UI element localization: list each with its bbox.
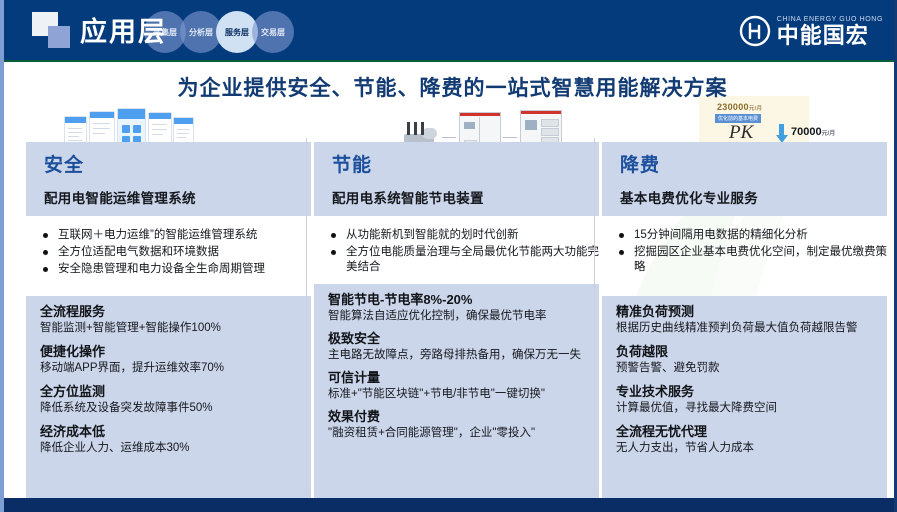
- bullet-text: 全方位电能质量治理与全局最优化节能两大功能完美结合: [346, 246, 599, 273]
- layer-circle-label: 交易层: [261, 27, 285, 38]
- connector-dash: [442, 137, 456, 138]
- cabinet-drawer: [541, 119, 559, 127]
- column-divider-1: [306, 138, 307, 494]
- company-emblem-icon: [739, 15, 771, 47]
- bullet-item: 全方位适配电气数据和环境数据: [40, 245, 311, 260]
- bullet-list-energy-saving: 从功能新机到智能就的划时代创新 全方位电能质量治理与全局最优化节能两大功能完美结…: [314, 228, 599, 277]
- detail-title: 经济成本低: [40, 424, 301, 440]
- detail-title: 智能节电-节电率8%-20%: [328, 292, 589, 308]
- detail-desc: 预警告警、避免罚款: [616, 361, 877, 376]
- brand-logo: CHINA ENERGY GUO HONG 中能国宏: [739, 11, 883, 51]
- phone-line: [152, 124, 167, 125]
- detail-item: 专业技术服务 计算最优值，寻找最大降费空间: [616, 384, 877, 416]
- phone-top-bar: [118, 109, 145, 119]
- phone-top-bar: [65, 117, 86, 123]
- cabinet-drawer: [541, 128, 559, 136]
- cabinet-screen: [525, 120, 537, 130]
- brand-name-chinese: 中能国宏: [777, 25, 883, 47]
- brand-name-english: CHINA ENERGY GUO HONG: [777, 16, 883, 23]
- bullet-item: 挖掘园区企业基本电费优化空间，制定最优缴费策略: [616, 245, 887, 275]
- column-energy-saving: 节能 配用电系统智能节电装置 从功能新机到智能就的划时代创新 全方位电能质量治理…: [314, 106, 599, 498]
- phone-tile: [122, 125, 130, 133]
- card-kicker: 安全: [44, 150, 311, 177]
- pk-before-unit: 元/月: [749, 106, 762, 112]
- header-square-mark: [32, 12, 74, 52]
- column-cost-reduction: 230000元/月 优化前的基本电费 PK 160000元/月 优化后的基本电费…: [602, 106, 887, 498]
- pk-savings-number: 70000: [791, 126, 822, 138]
- detail-item: 效果付费 "融资租赁+合同能源管理"，企业"零投入": [328, 409, 589, 441]
- detail-item: 全流程无忧代理 无人力支出，节省人力成本: [616, 424, 877, 456]
- phone-tile: [133, 125, 141, 133]
- card-header-energy-saving: 节能 配用电系统智能节电装置: [314, 142, 599, 216]
- phone-line: [177, 137, 186, 138]
- pk-before-value: 230000元/月: [717, 102, 762, 112]
- bullet-item: 互联网＋电力运维”的智能运维管理系统: [40, 228, 311, 243]
- detail-title: 精准负荷预测: [616, 304, 877, 320]
- phone-line: [93, 133, 105, 134]
- detail-title: 全流程无忧代理: [616, 424, 877, 440]
- bullet-dot-icon: [331, 233, 336, 238]
- layer-circle-transaction[interactable]: 交易层: [252, 11, 294, 53]
- layer-circle-label: 分析层: [189, 27, 213, 38]
- column-safety: 安全 配用电智能运维管理系统 互联网＋电力运维”的智能运维管理系统 全方位适配电…: [26, 106, 311, 498]
- page-footer-bar: [4, 498, 897, 512]
- detail-item: 负荷越限 预警告警、避免罚款: [616, 344, 877, 376]
- detail-box-cost-reduction: 精准负荷预测 根据历史曲线精准预判负荷最大值负荷越限告警 负荷越限 预警告警、避…: [602, 296, 887, 498]
- detail-desc: 智能算法自适应优化控制，确保最优节电率: [328, 309, 589, 324]
- bullet-list-cost-reduction: 15分钟间隔用电数据的精细化分析 挖掘园区企业基本电费优化空间，制定最优缴费策略: [602, 228, 887, 277]
- detail-item: 智能节电-节电率8%-20% 智能算法自适应优化控制，确保最优节电率: [328, 292, 589, 324]
- square-blue: [48, 26, 70, 48]
- detail-title: 专业技术服务: [616, 384, 877, 400]
- brand-logo-text: CHINA ENERGY GUO HONG 中能国宏: [777, 16, 883, 47]
- bullet-text: 15分钟间隔用电数据的精细化分析: [634, 229, 808, 241]
- detail-desc: 无人力支出，节省人力成本: [616, 441, 877, 456]
- pk-savings-value: 70000元/月: [791, 126, 835, 138]
- card-subtitle: 基本电费优化专业服务: [620, 187, 887, 207]
- phone-top-bar: [174, 118, 193, 124]
- detail-box-energy-saving: 智能节电-节电率8%-20% 智能算法自适应优化控制，确保最优节电率 极致安全 …: [314, 284, 599, 498]
- bullet-text: 从功能新机到智能就的划时代创新: [346, 229, 519, 241]
- detail-desc: 降低系统及设备突发故障事件50%: [40, 401, 301, 416]
- phone-line: [68, 136, 79, 137]
- phone-top-bar: [149, 113, 171, 119]
- page-header: 采集层 分析层 服务层 交易层 应用层 CHINA ENERGY GUO HON…: [4, 0, 897, 62]
- layer-circle-label: 服务层: [225, 27, 249, 38]
- bullet-item: 从功能新机到智能就的划时代创新: [328, 228, 599, 243]
- bullet-dot-icon: [43, 250, 48, 255]
- bushing: [414, 122, 417, 135]
- pk-label: PK: [729, 122, 753, 144]
- cabinet-screen: [464, 122, 475, 129]
- detail-item: 可信计量 标准+"节能区块链"+节电/非节电"一键切换": [328, 370, 589, 402]
- phone-line: [152, 134, 163, 135]
- columns-container: 安全 配用电智能运维管理系统 互联网＋电力运维”的智能运维管理系统 全方位适配电…: [4, 106, 897, 498]
- detail-desc: 主电路无故障点，旁路母排热备用，确保万无一失: [328, 348, 589, 363]
- detail-desc: 根据历史曲线精准预判负荷最大值负荷越限告警: [616, 321, 877, 336]
- bullet-text: 互联网＋电力运维”的智能运维管理系统: [58, 229, 257, 241]
- detail-desc: 计算最优值，寻找最大降费空间: [616, 401, 877, 416]
- detail-item: 全方位监测 降低系统及设备突发故障事件50%: [40, 384, 301, 416]
- detail-title: 效果付费: [328, 409, 589, 425]
- detail-item: 经济成本低 降低企业人力、运维成本30%: [40, 424, 301, 456]
- pk-savings-unit: 元/月: [822, 131, 836, 137]
- card-subtitle: 配用电智能运维管理系统: [44, 187, 311, 207]
- bushing: [421, 122, 424, 135]
- detail-desc: 降低企业人力、运维成本30%: [40, 441, 301, 456]
- detail-title: 全流程服务: [40, 304, 301, 320]
- bullet-dot-icon: [43, 267, 48, 272]
- connector-dash: [503, 137, 517, 138]
- detail-item: 极致安全 主电路无故障点，旁路母排热备用，确保万无一失: [328, 331, 589, 363]
- header-title: 应用层: [80, 10, 167, 49]
- transformer-tank: [422, 128, 437, 139]
- phone-line: [68, 132, 82, 133]
- phone-line: [152, 129, 167, 130]
- detail-desc: 智能监测+智能管理+智能操作100%: [40, 321, 301, 336]
- detail-desc: 标准+"节能区块链"+节电/非节电"一键切换": [328, 387, 589, 402]
- card-kicker: 降费: [620, 150, 887, 177]
- bullet-text: 挖掘园区企业基本电费优化空间，制定最优缴费策略: [634, 246, 887, 273]
- detail-item: 便捷化操作 移动端APP界面，提升运维效率70%: [40, 344, 301, 376]
- bullet-dot-icon: [619, 250, 624, 255]
- detail-title: 极致安全: [328, 331, 589, 347]
- cabinet-top-strip: [460, 113, 500, 116]
- detail-item: 精准负荷预测 根据历史曲线精准预判负荷最大值负荷越限告警: [616, 304, 877, 336]
- detail-title: 便捷化操作: [40, 344, 301, 360]
- phone-line: [93, 123, 110, 124]
- bullet-dot-icon: [619, 233, 624, 238]
- phone-line: [177, 129, 189, 130]
- column-divider-2: [594, 138, 595, 494]
- bullet-list-safety: 互联网＋电力运维”的智能运维管理系统 全方位适配电气数据和环境数据 安全隐患管理…: [26, 228, 311, 279]
- detail-desc: "融资租赁+合同能源管理"，企业"零投入": [328, 426, 589, 441]
- detail-title: 全方位监测: [40, 384, 301, 400]
- cabinet-top-strip: [521, 111, 561, 114]
- bullet-item: 安全隐患管理和电力设备全生命周期管理: [40, 262, 311, 277]
- detail-box-safety: 全流程服务 智能监测+智能管理+智能操作100% 便捷化操作 移动端APP界面，…: [26, 296, 311, 498]
- layer-circles: 采集层 分析层 服务层 交易层: [144, 11, 324, 53]
- bullet-dot-icon: [331, 250, 336, 255]
- bullet-text: 安全隐患管理和电力设备全生命周期管理: [58, 263, 265, 275]
- card-subtitle: 配用电系统智能节电装置: [332, 187, 599, 207]
- pk-before-number: 230000: [717, 102, 749, 112]
- slide-root: 采集层 分析层 服务层 交易层 应用层 CHINA ENERGY GUO HON…: [0, 0, 897, 512]
- phone-line: [68, 140, 82, 141]
- detail-item: 全流程服务 智能监测+智能管理+智能操作100%: [40, 304, 301, 336]
- detail-title: 负荷越限: [616, 344, 877, 360]
- phone-top-bar: [90, 112, 114, 118]
- card-header-cost-reduction: 降费 基本电费优化专业服务: [602, 142, 887, 216]
- bushing: [407, 122, 410, 135]
- phone-line: [68, 128, 82, 129]
- bullet-item: 全方位电能质量治理与全局最优化节能两大功能完美结合: [328, 245, 599, 275]
- detail-title: 可信计量: [328, 370, 589, 386]
- detail-desc: 移动端APP界面，提升运维效率70%: [40, 361, 301, 376]
- bullet-item: 15分钟间隔用电数据的精细化分析: [616, 228, 887, 243]
- phone-line: [93, 128, 110, 129]
- page-title: 为企业提供安全、节能、降费的一站式智慧用能解决方案: [4, 72, 897, 102]
- card-header-safety: 安全 配用电智能运维管理系统: [26, 142, 311, 216]
- phone-line: [177, 133, 189, 134]
- card-kicker: 节能: [332, 150, 599, 177]
- bullet-dot-icon: [43, 233, 48, 238]
- bullet-text: 全方位适配电气数据和环境数据: [58, 246, 219, 258]
